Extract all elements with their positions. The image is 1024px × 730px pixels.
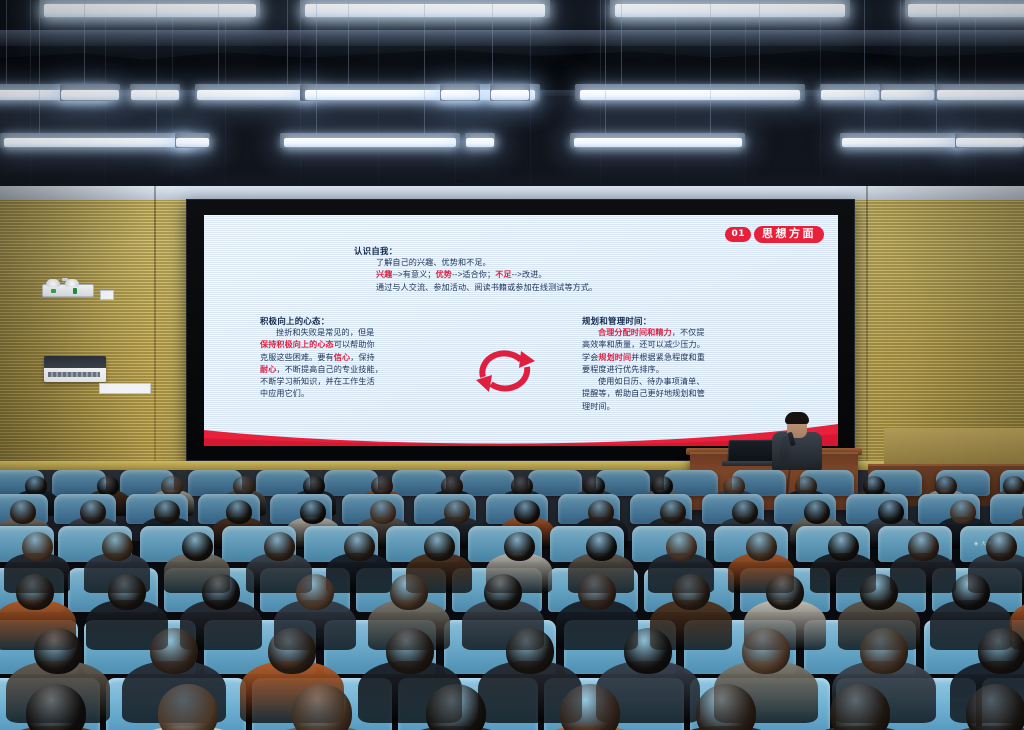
slide-block-self-awareness: 认识自我： 了解自己的兴趣、优势和不足。兴趣-->有意义；优势-->适合你；不足… [354, 245, 774, 294]
audience-member-head [696, 684, 756, 730]
audience-member-head [746, 532, 777, 561]
audience-member-head [386, 628, 434, 674]
audience-member-head [966, 684, 1024, 730]
fixture-tube [441, 90, 479, 100]
slide-text-highlight: 耐心 [260, 365, 276, 374]
fixture-stem [287, 0, 288, 86]
audience-member-head [672, 574, 710, 610]
fixture-stem [424, 0, 425, 135]
audience-member-head [10, 500, 36, 524]
audience-member-head [16, 574, 54, 610]
fluorescent-tube-icon [840, 133, 960, 148]
wall-sign [100, 290, 114, 300]
slide-text-line: 兴趣-->有意义；优势-->适合你；不足-->改进。 [376, 269, 774, 281]
slide-text-line: 提醒等，帮助自己更好地规划和管 [582, 388, 792, 400]
slide-heading-time-management: 规划和管理时间： [582, 315, 792, 327]
fixture-stem [492, 0, 493, 86]
slide-text-highlight: 兴趣 [376, 270, 392, 279]
fluorescent-tube-icon [955, 133, 1024, 148]
fixture-tube [131, 90, 179, 100]
fluorescent-tube-icon [820, 84, 880, 101]
fixture-stem [218, 0, 219, 86]
fixture-tube [956, 138, 1023, 147]
emergency-light [42, 284, 94, 297]
emergency-light-led-2 [73, 288, 77, 294]
fluorescent-tube-icon [300, 0, 550, 18]
fixture-tube [821, 90, 879, 100]
slide-lines-time-management: 合理分配时间和精力，不仅提高效率和质量，还可以减少压力。学会规划时间并根据紧急程… [582, 327, 792, 413]
fixture-tube [197, 90, 307, 100]
audience-member-head [300, 500, 326, 524]
fluorescent-tube-icon [905, 0, 1024, 18]
audience-member-head [158, 684, 218, 730]
audience-member [524, 684, 656, 730]
slide-text-run: 可以帮助你 [334, 340, 375, 349]
audience-member-head [370, 500, 396, 524]
audience-member-head [624, 628, 672, 674]
audience-member-head [666, 532, 697, 561]
audience-member-head [511, 476, 533, 496]
audience-member-head [150, 628, 198, 674]
presenter [770, 412, 824, 470]
wall-control-plate[interactable] [99, 383, 151, 394]
audience-member-head [202, 574, 240, 610]
audience-member-head [233, 476, 255, 496]
fixture-tube [61, 90, 119, 100]
slide-block-time-management: 规划和管理时间： 合理分配时间和精力，不仅提高效率和质量，还可以减少压力。学会规… [582, 315, 792, 413]
slide-text-run: 了解自己的兴趣、优势和不足。 [376, 258, 491, 267]
slide-text-run: -->改进。 [512, 270, 547, 279]
audience-member-head [154, 500, 180, 524]
wall-clip [62, 278, 68, 281]
air-conditioner-vent [48, 372, 100, 377]
audience-member-head [226, 500, 252, 524]
audience-member-head [860, 628, 908, 674]
air-conditioner-unit [44, 356, 106, 382]
slide-section-badge: 01 思想方面 [725, 226, 824, 243]
audience-member-head [161, 476, 183, 496]
slide-text-line: 合理分配时间和精力，不仅提 [582, 327, 792, 339]
slide-lines-positive-mindset: 挫折和失败是常见的，但是保持积极向上的心态可以帮助你克服这些困难。要有信心，保持… [260, 327, 450, 401]
audience-member [256, 684, 388, 730]
audience-member [930, 684, 1024, 730]
slide-text-highlight: 不足 [495, 270, 511, 279]
slide-text-run: 高效率和质量，还可以减少压力。 [582, 340, 705, 349]
slide-text-highlight: 信心 [334, 353, 350, 362]
audience-member-head [732, 500, 758, 524]
fixture-stem [84, 0, 85, 86]
fixture-stem [621, 0, 622, 86]
audience-member-head [390, 574, 428, 610]
fixture-stem [759, 0, 760, 86]
slide-block-positive-mindset: 积极向上的心态： 挫折和失败是常见的，但是保持积极向上的心态可以帮助你克服这些困… [260, 315, 450, 401]
slide-text-line: 克服这些困难。要有信心，保持 [260, 352, 450, 364]
audience-member-head [26, 684, 86, 730]
slide-text-line: 高效率和质量，还可以减少压力。 [582, 339, 792, 351]
audience-member-head [34, 628, 82, 674]
audience-member-head [742, 628, 790, 674]
fixture-tube [580, 90, 801, 100]
audience-member-head [506, 628, 554, 674]
slide-text-run: ，不仅提 [672, 328, 705, 337]
fixture-tube [574, 138, 742, 147]
wall-shadow-left [0, 186, 150, 506]
fixture-tube [176, 138, 210, 147]
audience-member-head [978, 628, 1024, 674]
slide-text-run: 克服这些困难。要有 [260, 353, 334, 362]
fluorescent-tube-icon [465, 133, 495, 148]
slide-text-line: 挫折和失败是常见的，但是 [260, 327, 450, 339]
fluorescent-tube-icon [0, 133, 195, 148]
audience-member-head [441, 476, 463, 496]
fixture-tube [842, 138, 957, 147]
audience-member-head [97, 476, 119, 496]
fluorescent-tube-icon [490, 84, 530, 101]
slide-text-run: 要程度进行优先排序。 [582, 365, 664, 374]
audience-member-head [586, 532, 617, 561]
audience-member-head [766, 574, 804, 610]
fixture-stem [864, 0, 865, 135]
audience-member-head [371, 476, 393, 496]
fluorescent-tube-icon [570, 133, 745, 148]
fluorescent-tube-icon [935, 84, 1024, 101]
fixture-tube [881, 90, 934, 100]
audience-member-head [830, 684, 890, 730]
slide-text-line: 了解自己的兴趣、优势和不足。 [376, 257, 774, 269]
slide-text-run: 学会 [582, 353, 598, 362]
audience-member-head [108, 574, 146, 610]
slide-text-run: 挫折和失败是常见的，但是 [276, 328, 374, 337]
audience-member-head [1003, 476, 1024, 496]
fluorescent-tube-icon [880, 84, 935, 101]
fluorescent-tube-icon [40, 0, 260, 18]
fluorescent-tube-icon [130, 84, 180, 101]
slide-text-run: 并根据紧急程度和重 [631, 353, 705, 362]
fluorescent-tube-icon [440, 84, 480, 101]
fixture-stem [156, 0, 157, 135]
fluorescent-tube-icon [575, 84, 805, 101]
fluorescent-tube-icon [610, 0, 850, 18]
audience-member-head [828, 532, 859, 561]
audience-member-head [952, 574, 990, 610]
fixture-stem [316, 0, 317, 135]
fixture-stem [6, 0, 7, 86]
fixture-tube [937, 90, 1024, 100]
audience-member-head [514, 500, 540, 524]
emergency-light-led [51, 289, 56, 293]
slide-heading-self-awareness: 认识自我： [354, 245, 774, 257]
ceiling-light-reflection-band [0, 30, 1024, 46]
fixture-tube [491, 90, 529, 100]
audience-member-head [583, 476, 605, 496]
slide-text-run: 通过与人交流、参加活动、阅读书籍或参加在线测试等方式。 [376, 283, 597, 292]
fixture-stem [959, 0, 960, 86]
audience-member-head [578, 574, 616, 610]
audience-member-head [424, 532, 455, 561]
audience-member-head [860, 574, 898, 610]
audience-member-head [444, 500, 470, 524]
slide-text-highlight: 规划时间 [598, 353, 631, 362]
fixture-tube [305, 4, 545, 17]
audience-member-head [268, 628, 316, 674]
slide-text-line: 中应用它们。 [260, 388, 450, 400]
slide-text-line: 使用如日历、待办事项清单、 [582, 376, 792, 388]
wall-seam [154, 186, 156, 506]
audience-member-head [22, 532, 53, 561]
fixture-tube [908, 4, 1024, 17]
slide-text-run: -->有意义； [392, 270, 435, 279]
audience-member [660, 684, 792, 730]
audience-member-head [426, 684, 486, 730]
slide-text-run: 不断学习新知识，并在工作生活 [260, 377, 375, 386]
audience-member-head [908, 532, 939, 561]
audience-member-head [723, 476, 745, 496]
fixture-tube [466, 138, 495, 147]
slide-text-line: 耐心，不断提高自己的专业技能， [260, 364, 450, 376]
audience-member-head [660, 500, 686, 524]
slide-section-number: 01 [725, 227, 751, 242]
lecture-hall-photo: 01 思想方面 认识自我： 了解自己的兴趣、优势和不足。兴趣-->有意义；优势-… [0, 0, 1024, 730]
fixture-stem [605, 0, 606, 135]
audience-member-head [560, 684, 620, 730]
circular-arrows-icon [469, 341, 541, 403]
slide-text-run: 使用如日历、待办事项清单、 [598, 377, 705, 386]
audience-member-head [102, 532, 133, 561]
audience-member-head [878, 500, 904, 524]
slide-text-line: 保持积极向上的心态可以帮助你 [260, 339, 450, 351]
fixture-tube [4, 138, 191, 147]
slide-text-line: 通过与人交流、参加活动、阅读书籍或参加在线测试等方式。 [376, 282, 774, 294]
slide-text-line: 学会规划时间并根据紧急程度和重 [582, 352, 792, 364]
audience-member-head [264, 532, 295, 561]
slide-text-run: -->适合你； [452, 270, 495, 279]
audience-member [390, 684, 522, 730]
audience-member [794, 684, 926, 730]
fixture-stem [710, 0, 711, 135]
slide-text-run: 理时间。 [582, 402, 615, 411]
audience-member-head [182, 532, 213, 561]
audience-member [122, 684, 254, 730]
audience-member-head [795, 476, 817, 496]
audience-member-head [950, 500, 976, 524]
slide-text-run: 提醒等，帮助自己更好地规划和管 [582, 389, 705, 398]
side-wall-panel [884, 428, 1024, 466]
audience-member-head [344, 532, 375, 561]
fixture-tube [615, 4, 845, 17]
audience-member-head [863, 476, 885, 496]
slide-text-run: ，保持 [350, 353, 375, 362]
audience-member-head [296, 574, 334, 610]
slide-text-highlight: 保持积极向上的心态 [260, 340, 334, 349]
slide-lines-self-awareness: 了解自己的兴趣、优势和不足。兴趣-->有意义；优势-->适合你；不足-->改进。… [354, 257, 774, 294]
slide-text-run: 中应用它们。 [260, 389, 309, 398]
audience-member-head [25, 476, 47, 496]
fixture-stem [348, 0, 349, 86]
audience-member-head [651, 476, 673, 496]
audience-member-head [804, 500, 830, 524]
slide-text-line: 不断学习新知识，并在工作生活 [260, 376, 450, 388]
audience-member-head [588, 500, 614, 524]
audience-member-head [504, 532, 535, 561]
projection-screen: 01 思想方面 认识自我： 了解自己的兴趣、优势和不足。兴趣-->有意义；优势-… [186, 199, 855, 461]
audience-member-head [303, 476, 325, 496]
fluorescent-tube-icon [60, 84, 120, 101]
fixture-tube [44, 4, 255, 17]
fixture-stem [936, 0, 937, 135]
slide-text-highlight: 优势 [436, 270, 452, 279]
audience-member-head [484, 574, 522, 610]
slide-heading-positive-mindset: 积极向上的心态： [260, 315, 450, 327]
slide-text-line: 要程度进行优先排序。 [582, 364, 792, 376]
fixture-stem [39, 0, 40, 135]
fixture-tube [284, 138, 457, 147]
audience-member-head [292, 684, 352, 730]
audience-member-head [80, 500, 106, 524]
audience-member-head [986, 532, 1017, 561]
fluorescent-tube-icon [280, 133, 460, 148]
slide-text-highlight: 合理分配时间和精力 [598, 328, 672, 337]
audience-area: ◉ 大学 [0, 470, 1024, 730]
presenter-hair [785, 412, 809, 424]
audience-member [0, 684, 122, 730]
fluorescent-tube-icon [175, 133, 210, 148]
presentation-slide: 01 思想方面 认识自我： 了解自己的兴趣、优势和不足。兴趣-->有意义；优势-… [204, 215, 838, 446]
audience-member-head [935, 476, 957, 496]
slide-text-run: ，不断提高自己的专业技能， [276, 365, 383, 374]
fluorescent-tube-icon [195, 84, 310, 101]
slide-section-label: 思想方面 [754, 226, 824, 243]
